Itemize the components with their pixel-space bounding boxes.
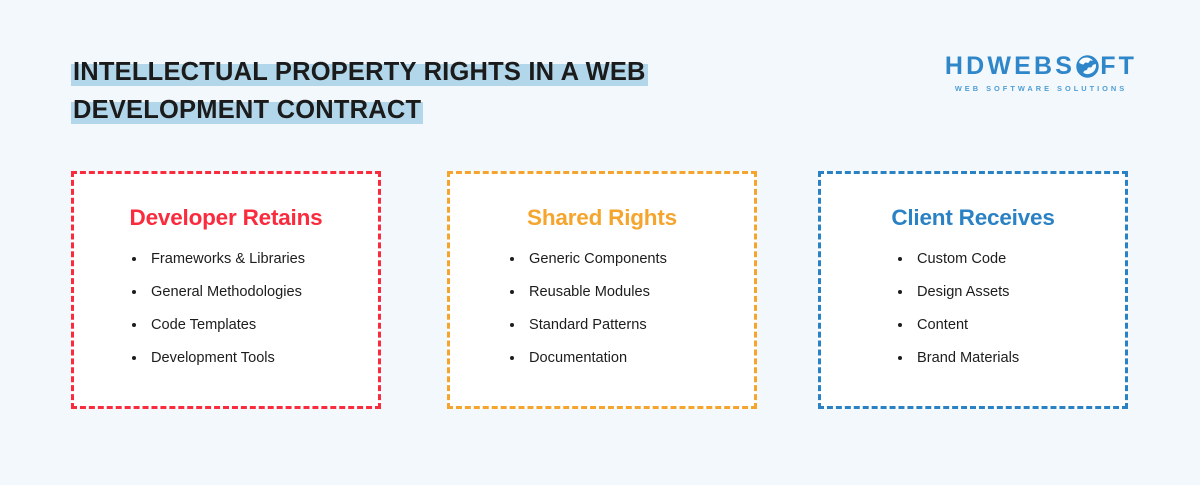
list-item: Design Assets: [896, 283, 1009, 301]
bullet-icon: [898, 323, 902, 327]
bullet-icon: [510, 257, 514, 261]
list-item-label: Code Templates: [151, 317, 256, 333]
list-item-label: Custom Code: [917, 251, 1006, 267]
list-item-label: Frameworks & Libraries: [151, 251, 305, 267]
list-item: Content: [896, 316, 968, 334]
list-item: Documentation: [508, 349, 627, 367]
card-list-developer-retains: Frameworks & Libraries General Methodolo…: [74, 250, 378, 367]
logo-wordmark-part2: FT: [1100, 53, 1137, 79]
bullet-icon: [132, 323, 136, 327]
hdwebsoft-logo: HDWEBS FT WEB SOFTWARE SOLUTIONS: [950, 52, 1132, 94]
bullet-icon: [132, 356, 136, 360]
list-item-label: Reusable Modules: [529, 284, 650, 300]
page-title-line-1-text: INTELLECTUAL PROPERTY RIGHTS IN A WEB: [71, 58, 648, 86]
ip-rights-cards: Developer Retains Frameworks & Libraries…: [0, 171, 1200, 411]
page-title: INTELLECTUAL PROPERTY RIGHTS IN A WEB DE…: [71, 55, 711, 131]
bullet-icon: [510, 356, 514, 360]
list-item: General Methodologies: [130, 283, 302, 301]
list-item-label: Generic Components: [529, 251, 667, 267]
list-item: Frameworks & Libraries: [130, 250, 305, 268]
page-title-line-1: INTELLECTUAL PROPERTY RIGHTS IN A WEB: [71, 55, 711, 89]
card-list-client-receives: Custom Code Design Assets Content Brand …: [821, 250, 1125, 367]
bullet-icon: [132, 257, 136, 261]
page-title-line-2: DEVELOPMENT CONTRACT: [71, 93, 711, 127]
list-item: Generic Components: [508, 250, 667, 268]
globe-icon: [1076, 55, 1099, 78]
card-title-developer-retains: Developer Retains: [74, 205, 378, 231]
list-item: Reusable Modules: [508, 283, 650, 301]
header: INTELLECTUAL PROPERTY RIGHTS IN A WEB DE…: [0, 0, 1200, 150]
bullet-icon: [898, 290, 902, 294]
list-item-label: Brand Materials: [917, 350, 1019, 366]
list-item-label: General Methodologies: [151, 284, 302, 300]
bullet-icon: [898, 356, 902, 360]
card-title-shared-rights: Shared Rights: [450, 205, 754, 231]
logo-tagline: WEB SOFTWARE SOLUTIONS: [950, 84, 1132, 94]
list-item-label: Standard Patterns: [529, 317, 647, 333]
card-client-receives: Client Receives Custom Code Design Asset…: [818, 171, 1128, 409]
list-item: Standard Patterns: [508, 316, 647, 334]
bullet-icon: [510, 290, 514, 294]
list-item-label: Development Tools: [151, 350, 275, 366]
logo-wordmark: HDWEBS FT: [950, 52, 1132, 79]
list-item: Code Templates: [130, 316, 256, 334]
page-title-line-2-text: DEVELOPMENT CONTRACT: [71, 96, 423, 124]
bullet-icon: [132, 290, 136, 294]
list-item: Brand Materials: [896, 349, 1019, 367]
list-item: Custom Code: [896, 250, 1006, 268]
logo-wordmark-part1: HDWEBS: [945, 53, 1075, 79]
card-shared-rights: Shared Rights Generic Components Reusabl…: [447, 171, 757, 409]
list-item-label: Design Assets: [917, 284, 1009, 300]
bullet-icon: [510, 323, 514, 327]
card-title-client-receives: Client Receives: [821, 205, 1125, 231]
list-item-label: Content: [917, 317, 968, 333]
list-item: Development Tools: [130, 349, 275, 367]
bullet-icon: [898, 257, 902, 261]
list-item-label: Documentation: [529, 350, 627, 366]
card-list-shared-rights: Generic Components Reusable Modules Stan…: [450, 250, 754, 367]
card-developer-retains: Developer Retains Frameworks & Libraries…: [71, 171, 381, 409]
